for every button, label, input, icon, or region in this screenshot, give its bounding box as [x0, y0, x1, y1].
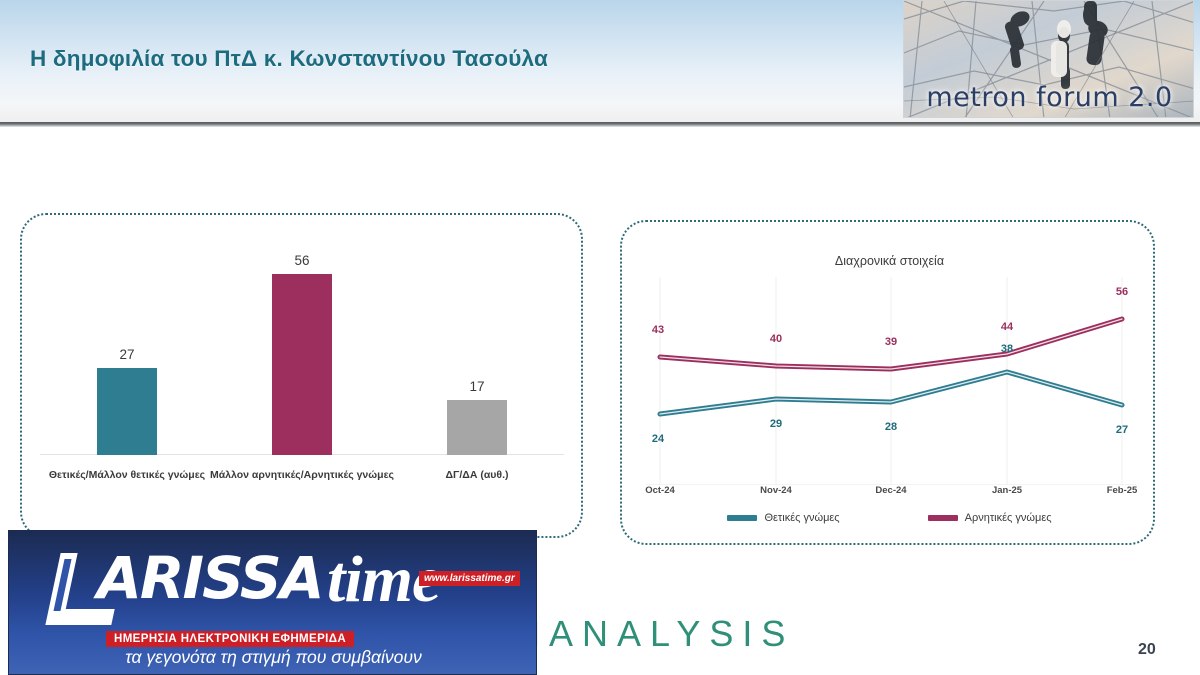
bar-category-label-1: Μάλλον αρνητικές/Αρνητικές γνώμες: [210, 469, 394, 481]
bar-chart-plot-area: 27 Θετικές/Μάλλον θετικές γνώμες 56 Μάλλ…: [40, 229, 564, 487]
line-point-label-negative-2: 39: [885, 336, 897, 348]
larissatime-url-badge[interactable]: www.larissatime.gr: [419, 571, 520, 586]
line-point-label-positive-1: 29: [770, 418, 782, 430]
bar-chart-panel: 27 Θετικές/Μάλλον θετικές γνώμες 56 Μάλλ…: [20, 213, 583, 538]
legend-item-negative[interactable]: Αρνητικές γνώμες: [928, 512, 1052, 524]
line-point-label-positive-2: 28: [885, 421, 897, 433]
legend-item-positive[interactable]: Θετικές γνώμες: [727, 512, 839, 524]
legend-label-positive: Θετικές γνώμες: [764, 512, 839, 524]
bar-column-2: 17 ΔΓ/ΔΑ (αυθ.): [390, 229, 564, 455]
larissatime-brand-row: ARISSA time www.larissatime.gr ΗΜΕΡΗΣΙΑ …: [9, 541, 537, 621]
metron-forum-wordmark: metron forum 2.0: [904, 82, 1194, 113]
metron-forum-logo: metron forum 2.0: [903, 0, 1194, 118]
line-x-tick-3: Jan-25: [992, 485, 1022, 496]
line-x-tick-1: Nov-24: [760, 485, 792, 496]
line-point-label-negative-3: 44: [1001, 321, 1013, 333]
larissatime-subtitle-badge: ΗΜΕΡΗΣΙΑ ΗΛΕΚΤΡΟΝΙΚΗ ΕΦΗΜΕΡΙΔΑ: [106, 631, 354, 647]
line-point-label-positive-0: 24: [652, 433, 664, 445]
line-x-tick-2: Dec-24: [875, 485, 906, 496]
line-chart-panel: Διαχρονικά στοιχεία 24292838274340394456…: [620, 220, 1155, 545]
line-point-label-positive-4: 27: [1116, 424, 1128, 436]
bar-category-label-2: ΔΓ/ΔΑ (αυθ.): [446, 469, 509, 481]
larissatime-logo: ARISSA time www.larissatime.gr ΗΜΕΡΗΣΙΑ …: [8, 530, 537, 675]
line-x-tick-4: Feb-25: [1107, 485, 1138, 496]
larissatime-tagline: τα γεγονότα τη στιγμή που συμβαίνουν: [9, 647, 537, 668]
bar-category-label-0: Θετικές/Μάλλον θετικές γνώμες: [49, 469, 205, 481]
legend-label-negative: Αρνητικές γνώμες: [965, 512, 1052, 524]
line-chart-legend: Θετικές γνώμες Αρνητικές γνώμες: [622, 512, 1157, 524]
line-chart-plot-area: 24292838274340394456: [646, 277, 1136, 485]
bar-column-1: 56 Μάλλον αρνητικές/Αρνητικές γνώμες: [215, 229, 389, 455]
header-divider-rule: [0, 122, 1200, 127]
analysis-wordmark-rest: ANALYSIS: [549, 613, 794, 654]
bar-column-0: 27 Θετικές/Μάλλον θετικές γνώμες: [40, 229, 214, 455]
legend-swatch-positive: [727, 515, 757, 521]
line-point-label-negative-1: 40: [770, 333, 782, 345]
bar-rect-2[interactable]: [447, 400, 507, 455]
line-point-label-negative-0: 43: [652, 324, 664, 336]
line-chart-svg: [646, 277, 1136, 485]
line-point-label-positive-3: 38: [1001, 343, 1013, 355]
line-point-label-negative-4: 56: [1116, 286, 1128, 298]
bar-rect-1[interactable]: [272, 274, 332, 455]
legend-swatch-negative: [928, 515, 958, 521]
line-chart-title: Διαχρονικά στοιχεία: [622, 254, 1157, 268]
page-title: Η δημοφιλία του ΠτΔ κ. Κωνσταντίνου Τασο…: [30, 46, 548, 72]
page-number: 20: [1138, 641, 1156, 659]
bar-value-2: 17: [469, 379, 484, 394]
line-chart-x-axis: Oct-24Nov-24Dec-24Jan-25Feb-25: [646, 485, 1136, 501]
analysis-wordmark: NANALYSIS: [514, 613, 794, 655]
bar-rect-0[interactable]: [97, 368, 157, 455]
line-x-tick-0: Oct-24: [645, 485, 675, 496]
bar-value-0: 27: [119, 347, 134, 362]
bar-value-1: 56: [294, 253, 309, 268]
larissatime-brand-main: ARISSA: [97, 549, 323, 607]
